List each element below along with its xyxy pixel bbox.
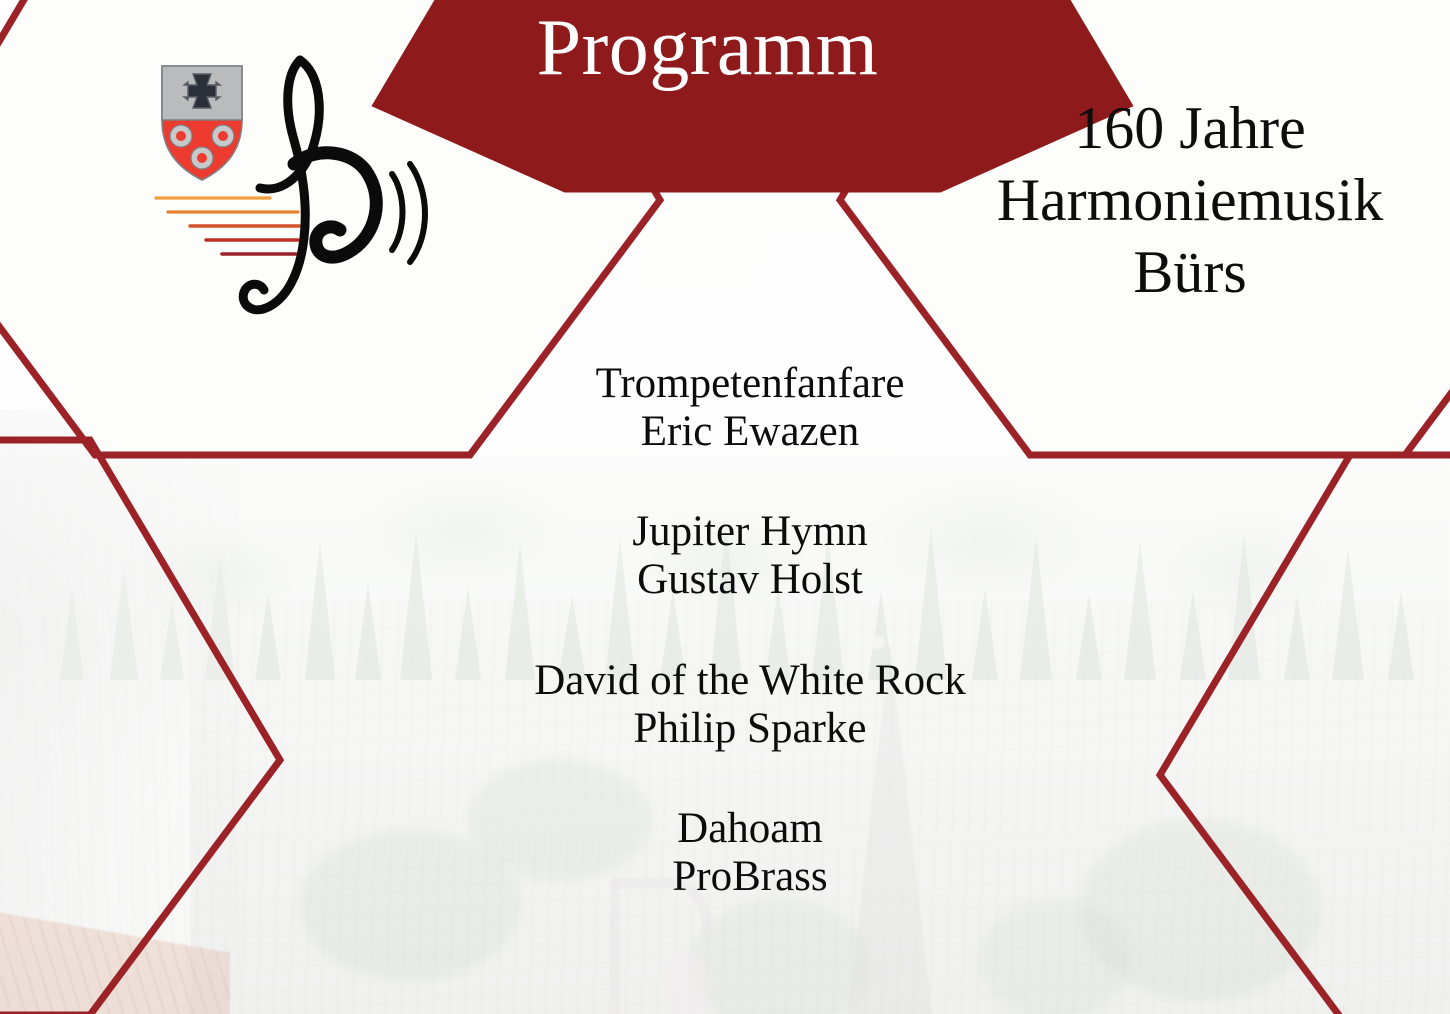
program-piece-title: Trompetenfanfare [380,360,1120,408]
program-list: Trompetenfanfare Eric Ewazen Jupiter Hym… [380,360,1120,901]
program-item: Dahoam ProBrass [380,805,1120,901]
anniversary-line-1: 160 Jahre [940,92,1440,164]
program-piece-composer: Gustav Holst [380,556,1120,604]
harmoniemusik-buers-logo [148,48,460,338]
treble-clef-ear-icon [243,60,425,310]
program-piece-title: Dahoam [380,805,1120,853]
program-piece-title: Jupiter Hymn [380,508,1120,556]
program-item: Jupiter Hymn Gustav Holst [380,508,1120,604]
anniversary-heading: 160 Jahre Harmoniemusik Bürs [940,92,1440,308]
program-piece-composer: Eric Ewazen [380,408,1120,456]
program-item: David of the White Rock Philip Sparke [380,657,1120,753]
program-piece-composer: Philip Sparke [380,705,1120,753]
sound-wave-lines-icon [156,198,300,254]
poster-canvas: Programm 160 Jahre Harmoniemusik Bürs Tr… [0,0,1450,1014]
program-item: Trompetenfanfare Eric Ewazen [380,360,1120,456]
coat-of-arms-icon [162,66,242,180]
page-title: Programm [480,6,935,91]
program-piece-composer: ProBrass [380,853,1120,901]
program-piece-title: David of the White Rock [380,657,1120,705]
anniversary-line-2: Harmoniemusik [940,164,1440,236]
anniversary-line-3: Bürs [940,236,1440,308]
